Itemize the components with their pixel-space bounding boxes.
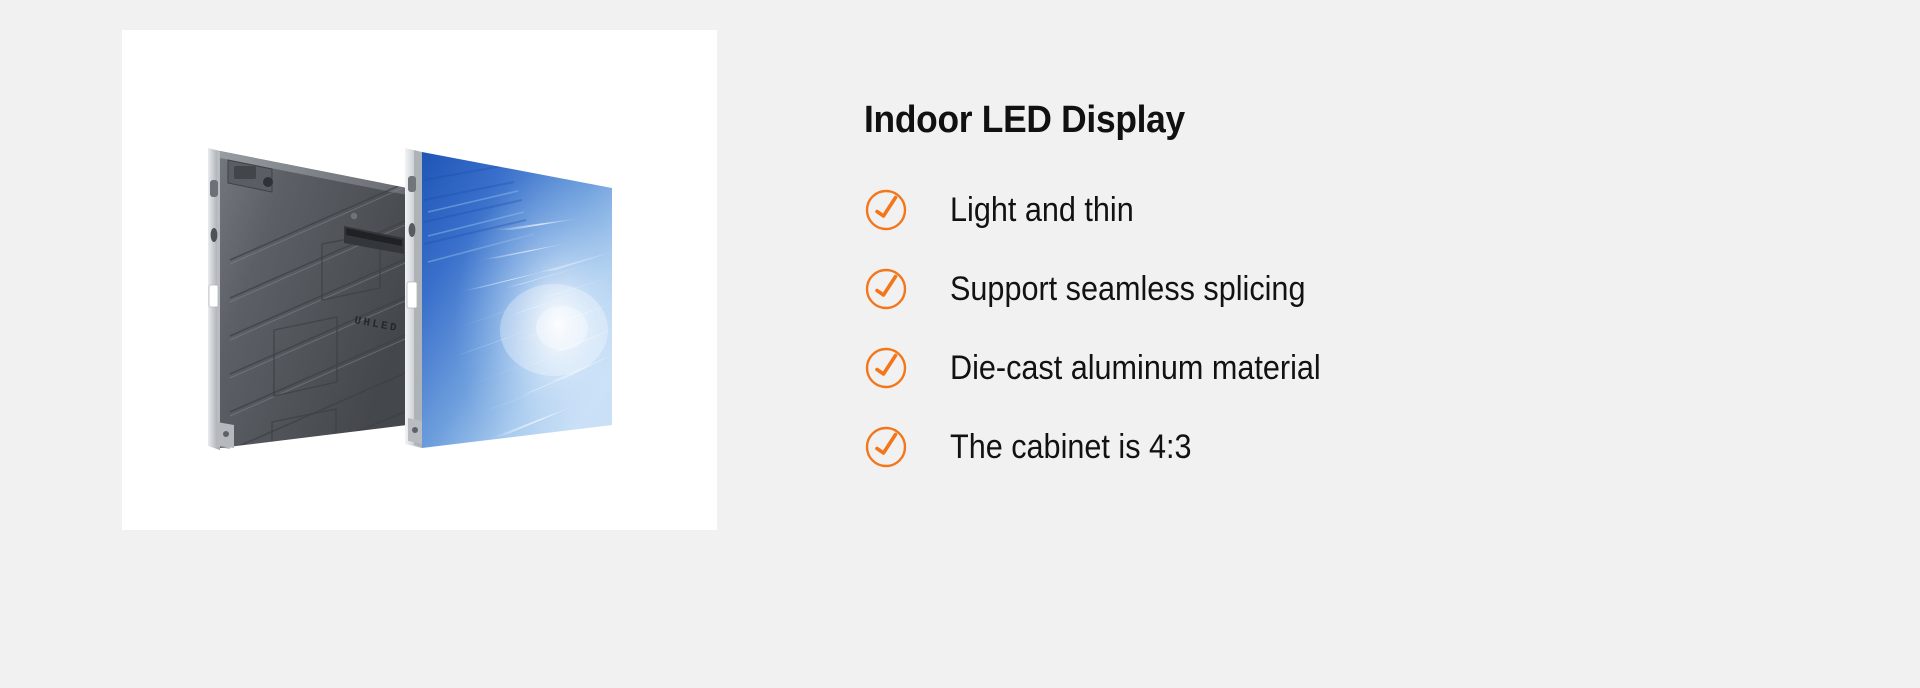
product-info-panel: Indoor LED Display Light and thin <box>864 98 1764 486</box>
check-circle-icon <box>864 188 908 232</box>
feature-label: Support seamless splicing <box>950 269 1305 309</box>
list-item: Die-cast aluminum material <box>864 328 1764 407</box>
feature-label: Light and thin <box>950 190 1134 230</box>
check-circle-icon <box>864 425 908 469</box>
list-item: The cabinet is 4:3 <box>864 407 1764 486</box>
product-banner: UHLED <box>0 0 1920 688</box>
feature-list: Light and thin Support seamless splicing <box>864 170 1764 486</box>
feature-label: The cabinet is 4:3 <box>950 427 1192 467</box>
check-circle-icon <box>864 346 908 390</box>
product-image-panel: UHLED <box>122 30 717 530</box>
check-circle-icon <box>864 267 908 311</box>
list-item: Light and thin <box>864 170 1764 249</box>
list-item: Support seamless splicing <box>864 249 1764 328</box>
cabinet-rear-chassis: UHLED <box>208 148 414 470</box>
cabinet-front-screen <box>405 148 622 450</box>
feature-label: Die-cast aluminum material <box>950 348 1321 388</box>
led-display-product-image: UHLED <box>122 30 717 530</box>
page-title: Indoor LED Display <box>864 98 1701 142</box>
